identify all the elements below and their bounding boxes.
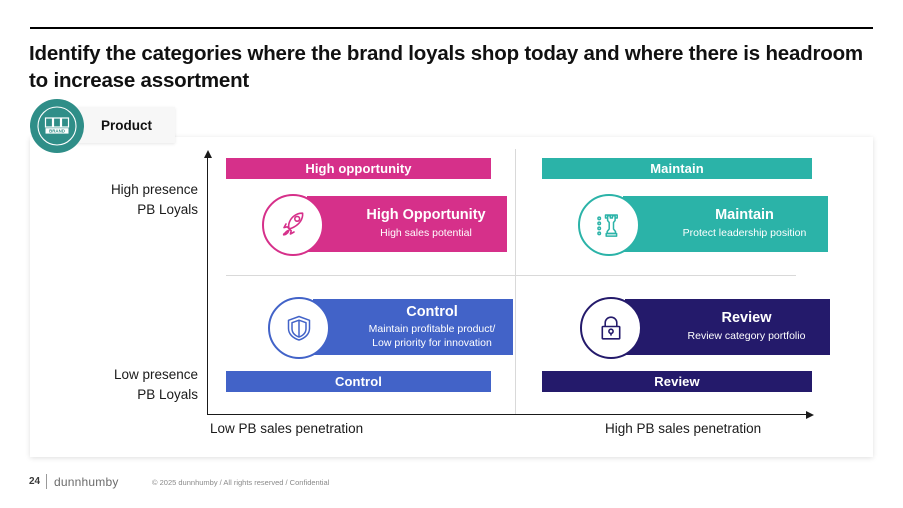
quadrant-bar-label-control: Control <box>335 374 382 389</box>
quadrant-icon-circle-high-opportunity <box>262 194 324 256</box>
quadrant-title-maintain: Maintain <box>715 207 774 224</box>
brand-badge: BRAND <box>30 99 84 153</box>
footer-page-number: 24 <box>29 476 40 487</box>
quadrant-bar-high-opportunity: High opportunity <box>226 158 491 179</box>
brand-badge-text: BRAND <box>49 129 65 134</box>
header-rule <box>30 27 873 29</box>
footer-copyright: © 2025 dunnhumby / All rights reserved /… <box>152 478 329 487</box>
quadrant-bar-label-high-opportunity: High opportunity <box>305 161 411 176</box>
y-axis-arrow-icon <box>204 150 212 158</box>
quadrant-bar-label-review: Review <box>654 374 699 389</box>
quadrant-card-control[interactable]: Control Maintain profitable product/ Low… <box>268 299 513 355</box>
y-axis-label-high-line2: PB Loyals <box>68 200 198 220</box>
quadrant-subtitle-high-opportunity: High sales potential <box>380 227 472 241</box>
chess-rook-icon <box>591 208 627 242</box>
quadrant-card-maintain[interactable]: Maintain Protect leadership position <box>578 196 828 252</box>
quadrant-card-body-control: Control Maintain profitable product/ Low… <box>313 299 513 355</box>
shield-icon <box>282 311 316 345</box>
footer-logo: dunnhumby <box>54 475 119 489</box>
y-axis-label-low-line2: PB Loyals <box>68 385 198 405</box>
y-axis-label-low: Low presence PB Loyals <box>68 365 198 404</box>
grid-line-vertical <box>515 149 516 414</box>
x-axis-label-high: High PB sales penetration <box>605 421 761 436</box>
quadrant-subtitle-review: Review category portfolio <box>688 330 806 344</box>
quadrant-icon-circle-control <box>268 297 330 359</box>
footer-divider <box>46 474 47 489</box>
quadrant-bar-review: Review <box>542 371 812 392</box>
grid-line-horizontal <box>226 275 796 276</box>
quadrant-card-body-review: Review Review category portfolio <box>625 299 830 355</box>
quadrant-icon-circle-maintain <box>578 194 640 256</box>
x-axis <box>207 414 807 415</box>
quadrant-card-high-opportunity[interactable]: High Opportunity High sales potential <box>262 196 507 252</box>
quadrant-bar-control: Control <box>226 371 491 392</box>
quadrant-title-high-opportunity: High Opportunity <box>366 207 485 224</box>
quadrant-icon-circle-review <box>580 297 642 359</box>
y-axis <box>207 157 208 415</box>
quadrant-subtitle-control-line2: Low priority for innovation <box>372 337 492 351</box>
page-title: Identify the categories where the brand … <box>29 40 869 95</box>
rocket-icon <box>276 208 310 242</box>
x-axis-label-low: Low PB sales penetration <box>210 421 363 436</box>
x-axis-arrow-icon <box>806 411 814 419</box>
quadrant-subtitle-control-line1: Maintain profitable product/ <box>369 323 496 337</box>
quadrant-bar-maintain: Maintain <box>542 158 812 179</box>
tab-product-label: Product <box>101 118 152 133</box>
padlock-icon <box>594 311 628 345</box>
quadrant-subtitle-maintain: Protect leadership position <box>683 227 807 241</box>
brand-boxes-icon: BRAND <box>36 105 78 147</box>
quadrant-card-body-maintain: Maintain Protect leadership position <box>623 196 828 252</box>
quadrant-title-control: Control <box>406 304 458 321</box>
quadrant-card-body-high-opportunity: High Opportunity High sales potential <box>307 196 507 252</box>
quadrant-title-review: Review <box>722 310 772 327</box>
matrix-panel: High presence PB Loyals Low presence PB … <box>30 137 873 457</box>
y-axis-label-low-line1: Low presence <box>68 365 198 385</box>
quadrant-card-review[interactable]: Review Review category portfolio <box>580 299 830 355</box>
quadrant-bar-label-maintain: Maintain <box>650 161 704 176</box>
y-axis-label-high-line1: High presence <box>68 180 198 200</box>
opportunity-matrix: High presence PB Loyals Low presence PB … <box>30 137 873 457</box>
y-axis-label-high: High presence PB Loyals <box>68 180 198 219</box>
